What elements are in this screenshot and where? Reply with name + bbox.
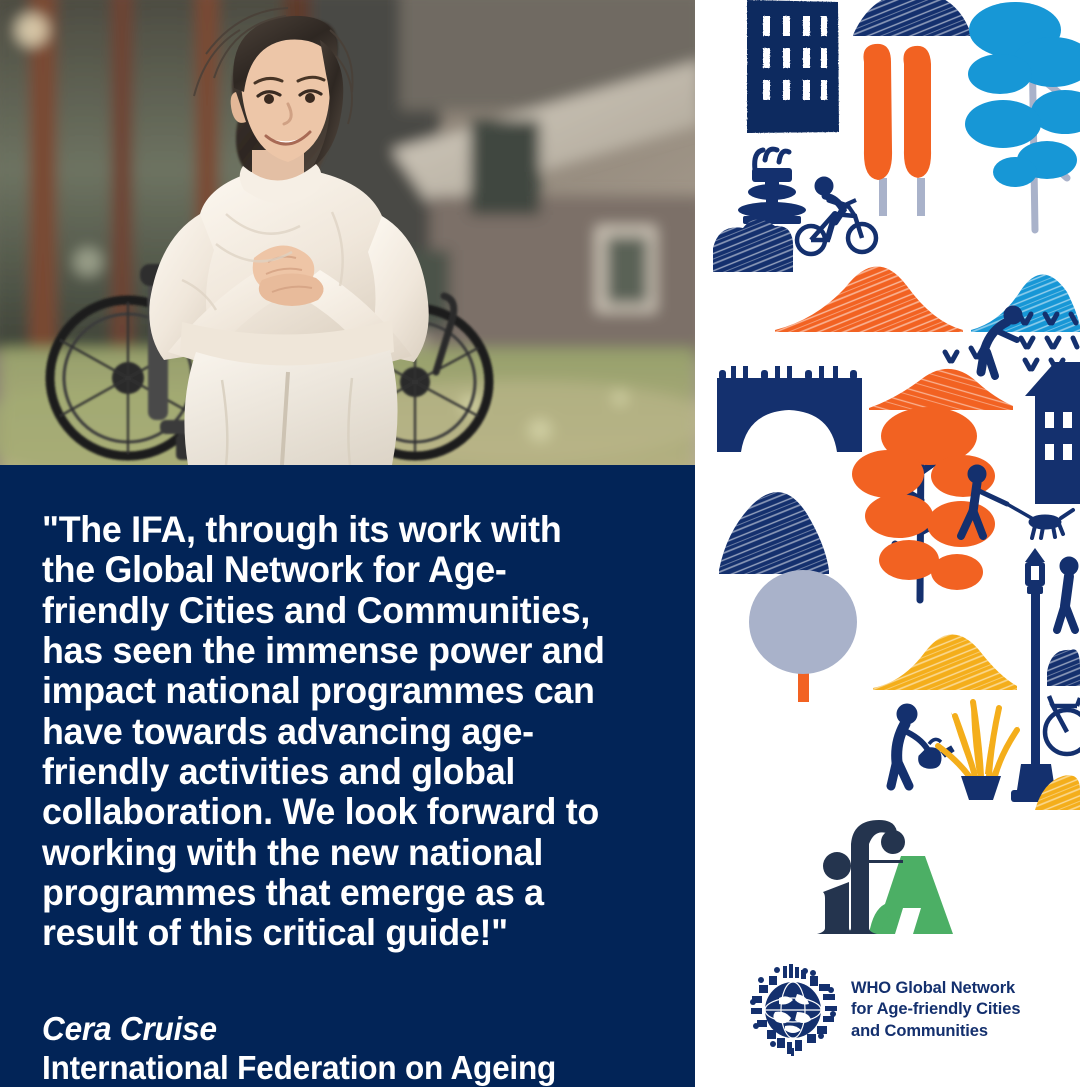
attribution-organization: International Federation on Ageing (42, 1049, 622, 1087)
social-quote-card: "The IFA, through its work with the Glob… (0, 0, 1080, 1080)
quote-text: "The IFA, through its work with the Glob… (42, 509, 622, 952)
ifa-logo (813, 818, 973, 936)
quote-block: "The IFA, through its work with the Glob… (0, 465, 695, 1087)
who-logo-line-3: and Communities (851, 1021, 1020, 1042)
attribution-name: Cera Cruise (42, 1010, 622, 1048)
who-global-network-logo: WHO Global Network for Age-friendly Citi… (747, 962, 1037, 1058)
right-panel: WHO Global Network for Age-friendly Citi… (695, 0, 1080, 1080)
quote-attribution: Cera Cruise International Federation on … (42, 1010, 622, 1087)
left-panel: "The IFA, through its work with the Glob… (0, 0, 695, 1080)
who-logo-line-1: WHO Global Network (851, 978, 1020, 999)
who-globe-icon (747, 964, 839, 1056)
age-friendly-city-illustration (695, 0, 1080, 810)
who-logo-line-2: for Age-friendly Cities (851, 999, 1020, 1020)
who-logo-text: WHO Global Network for Age-friendly Citi… (851, 978, 1020, 1041)
photo-older-woman-in-wheelchair (0, 0, 695, 465)
